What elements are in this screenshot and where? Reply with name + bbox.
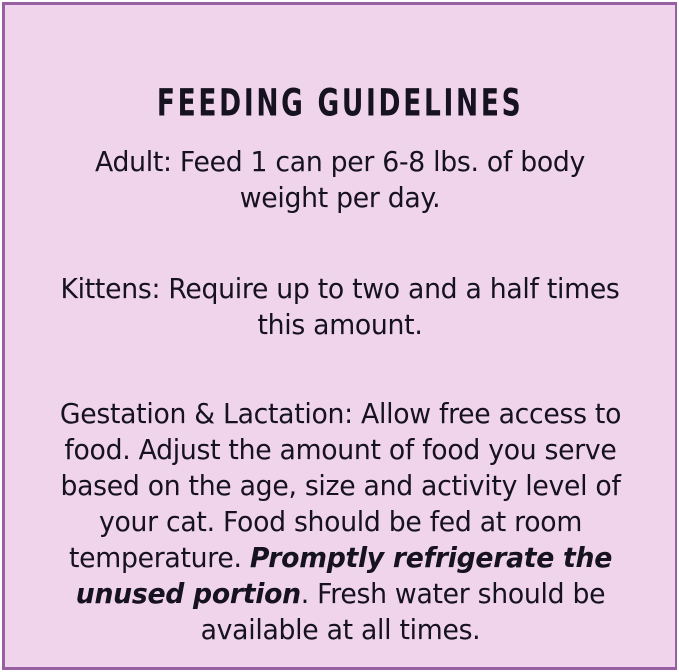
adult-feeding-paragraph: Adult: Feed 1 can per 6-8 lbs. of body w… [49, 144, 631, 216]
feeding-guidelines-panel: FEEDING GUIDELINES Adult: Feed 1 can per… [2, 2, 677, 670]
kittens-feeding-paragraph: Kittens: Require up to two and a half ti… [49, 271, 631, 343]
gestation-lactation-paragraph: Gestation & Lactation: Allow free access… [42, 396, 639, 648]
page-title: FEEDING GUIDELINES [157, 86, 523, 123]
panel-content: FEEDING GUIDELINES Adult: Feed 1 can per… [5, 5, 675, 667]
